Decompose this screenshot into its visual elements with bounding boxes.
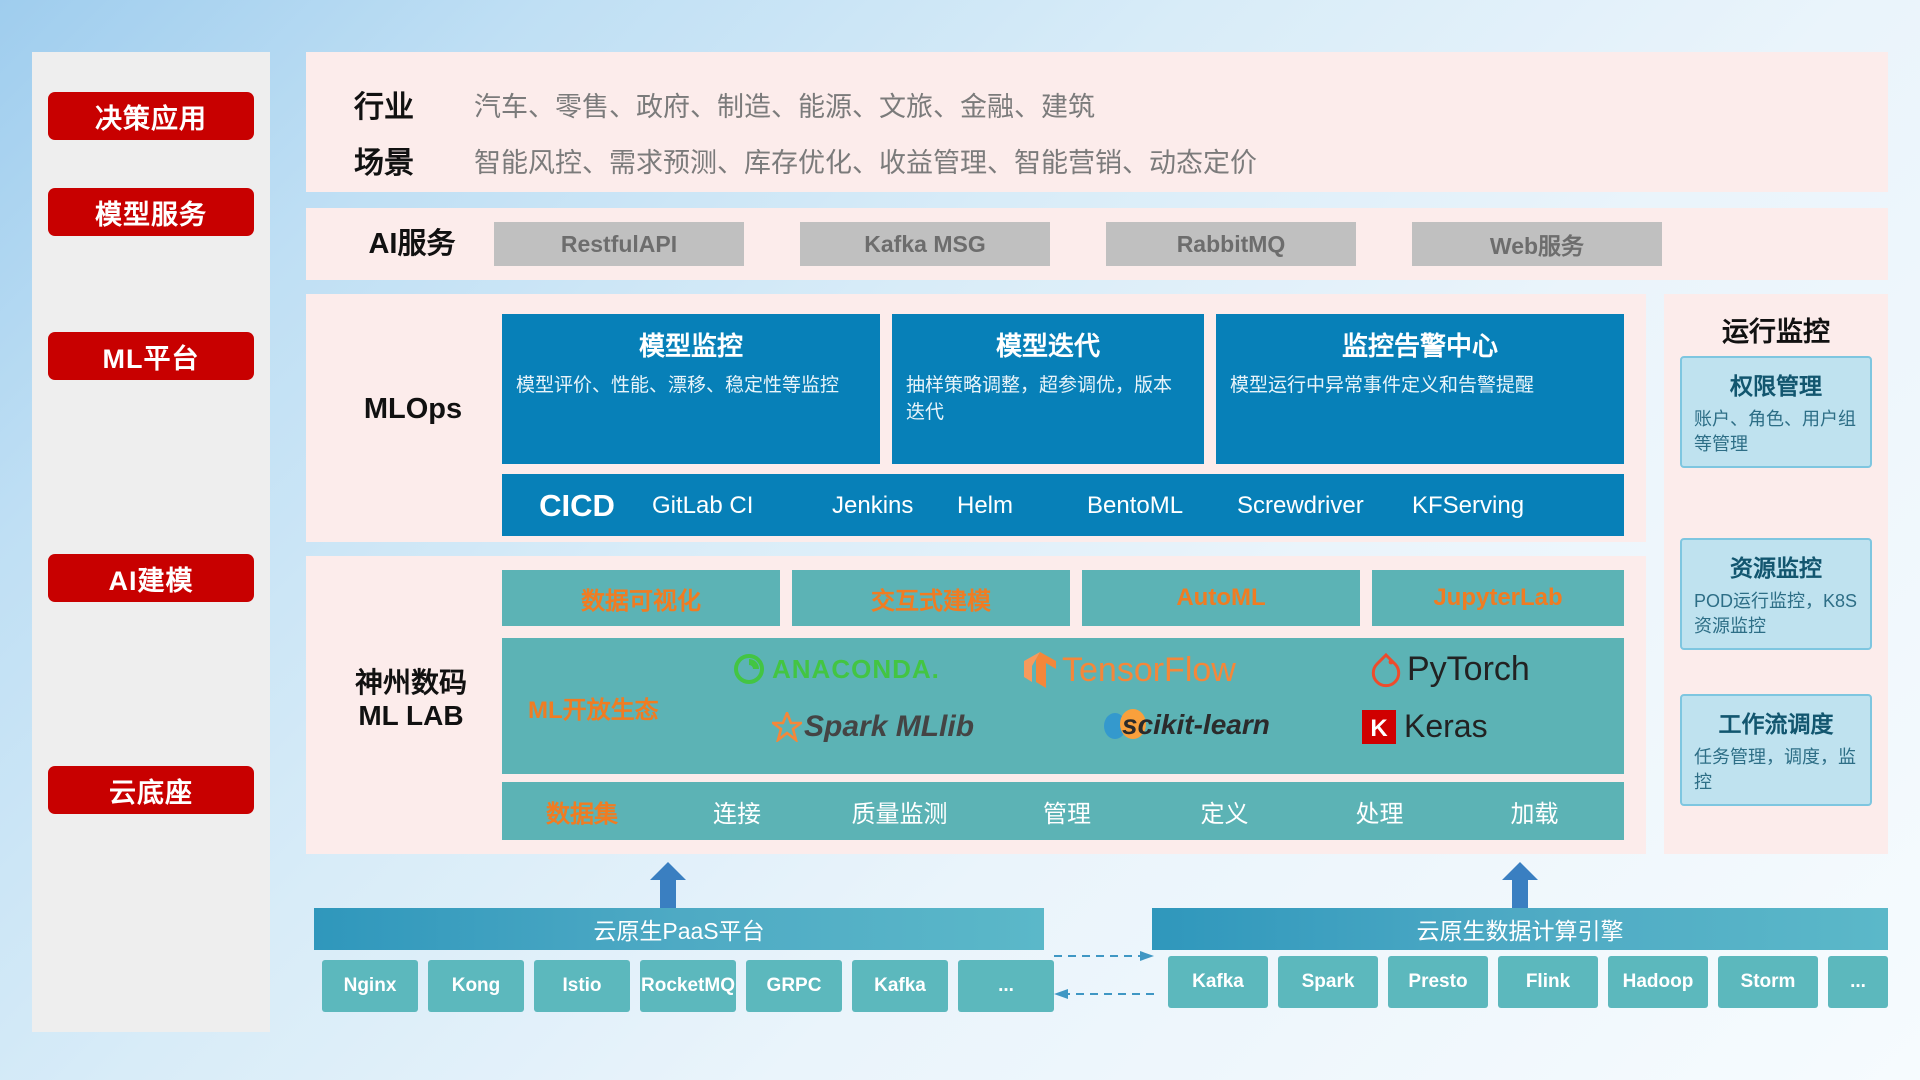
paas-chip-kong[interactable]: Kong: [428, 960, 524, 1012]
monitor-card-workflow[interactable]: 工作流调度 任务管理，调度，监控: [1680, 694, 1872, 806]
engine-chip-storm[interactable]: Storm: [1718, 956, 1818, 1008]
rail-item-cloud-base[interactable]: 云底座: [48, 766, 254, 814]
dataset-item-process[interactable]: 处理: [1302, 794, 1457, 829]
rail-label: ML平台: [103, 337, 200, 376]
card-desc: 账户、角色、用户组等管理: [1694, 407, 1858, 457]
architecture-diagram: 决策应用 模型服务 ML平台 AI建模 云底座 行业 汽车、零售、政府、制造、能…: [0, 0, 1920, 1080]
spark-mllib-wordmark: Spark MLlib: [804, 710, 974, 744]
paas-title-bar: 云原生PaaS平台: [314, 908, 1044, 950]
card-desc: 模型运行中异常事件定义和告警提醒: [1230, 373, 1610, 400]
tool-chip-automl[interactable]: AutoML: [1082, 570, 1360, 626]
scikit-learn-logo: scikit-learn: [1102, 708, 1270, 742]
mlops-band: MLOps 模型监控 模型评价、性能、漂移、稳定性等监控 模型迭代 抽样策略调整…: [306, 294, 1646, 542]
spark-star-icon: [772, 712, 802, 742]
layer-rail: 决策应用 模型服务 ML平台 AI建模 云底座: [32, 52, 270, 1032]
mlops-card-model-monitoring[interactable]: 模型监控 模型评价、性能、漂移、稳定性等监控: [502, 314, 880, 464]
keras-logo: K Keras: [1362, 708, 1488, 745]
paas-chip-istio[interactable]: Istio: [534, 960, 630, 1012]
rail-item-ai-modeling[interactable]: AI建模: [48, 554, 254, 602]
industry-scenario-band: 行业 汽车、零售、政府、制造、能源、文旅、金融、建筑 场景 智能风控、需求预测、…: [306, 52, 1888, 192]
tool-chip-interactive-modeling[interactable]: 交互式建模: [792, 570, 1070, 626]
arrow-up-engine: [1500, 862, 1540, 908]
tensorflow-icon: [1022, 650, 1058, 690]
cicd-item-jenkins[interactable]: Jenkins: [832, 474, 957, 521]
tensorflow-logo: TensorFlow: [1022, 650, 1236, 690]
ai-service-chip-rabbitmq[interactable]: RabbitMQ: [1106, 222, 1356, 266]
scikit-learn-wordmark: scikit-learn: [1122, 709, 1270, 741]
dataset-item-manage[interactable]: 管理: [987, 794, 1147, 829]
cicd-row: CICD GitLab CI Jenkins Helm BentoML Scre…: [502, 474, 1624, 536]
ai-service-label: AI服务: [342, 224, 482, 264]
card-title: 权限管理: [1694, 367, 1858, 401]
anaconda-icon: [732, 652, 766, 686]
dataset-item-define[interactable]: 定义: [1147, 794, 1302, 829]
paas-chip-rocketmq[interactable]: RocketMQ: [640, 960, 736, 1012]
rail-label: AI建模: [109, 559, 194, 598]
ai-service-band: AI服务 RestfulAPI Kafka MSG RabbitMQ Web服务: [306, 208, 1888, 280]
scenario-key: 场景: [354, 138, 474, 182]
tensorflow-wordmark: TensorFlow: [1062, 651, 1236, 690]
ml-lab-label-line2: ML LAB: [355, 699, 467, 732]
engine-chip-hadoop[interactable]: Hadoop: [1608, 956, 1708, 1008]
tool-chip-data-visualization[interactable]: 数据可视化: [502, 570, 780, 626]
ai-service-chip-kafka-msg[interactable]: Kafka MSG: [800, 222, 1050, 266]
engine-chip-flink[interactable]: Flink: [1498, 956, 1598, 1008]
rail-item-model-service[interactable]: 模型服务: [48, 188, 254, 236]
rail-label: 模型服务: [95, 193, 207, 232]
keras-wordmark: Keras: [1404, 708, 1488, 745]
anaconda-wordmark: ANACONDA.: [772, 654, 940, 685]
pytorch-logo: PyTorch: [1370, 650, 1530, 689]
dashed-connector: [1054, 946, 1154, 1006]
monitor-card-resource[interactable]: 资源监控 POD运行监控，K8S资源监控: [1680, 538, 1872, 650]
paas-chip-grpc[interactable]: GRPC: [746, 960, 842, 1012]
runtime-monitor-panel: 运行监控 权限管理 账户、角色、用户组等管理 资源监控 POD运行监控，K8S资…: [1664, 294, 1888, 854]
rail-item-decision-app[interactable]: 决策应用: [48, 92, 254, 140]
card-title: 模型迭代: [906, 326, 1190, 363]
ai-service-chip-restfulapi[interactable]: RestfulAPI: [494, 222, 744, 266]
mlops-card-model-iteration[interactable]: 模型迭代 抽样策略调整，超参调优，版本迭代: [892, 314, 1204, 464]
ml-ecosystem-label: ML开放生态: [528, 690, 659, 725]
ml-lab-label: 神州数码 ML LAB: [318, 664, 504, 734]
scenario-value: 智能风控、需求预测、库存优化、收益管理、智能营销、动态定价: [474, 141, 1257, 180]
scenario-row: 场景 智能风控、需求预测、库存优化、收益管理、智能营销、动态定价: [354, 138, 1257, 182]
engine-chip-more[interactable]: ...: [1828, 956, 1888, 1008]
keras-icon: K: [1362, 710, 1396, 744]
card-desc: 任务管理，调度，监控: [1694, 745, 1858, 795]
engine-chip-kafka[interactable]: Kafka: [1168, 956, 1268, 1008]
cicd-item-bentoml[interactable]: BentoML: [1087, 474, 1237, 521]
rail-item-ml-platform[interactable]: ML平台: [48, 332, 254, 380]
pytorch-icon: [1370, 652, 1402, 688]
engine-chip-spark[interactable]: Spark: [1278, 956, 1378, 1008]
card-title: 工作流调度: [1694, 705, 1858, 739]
tool-chip-jupyterlab[interactable]: JupyterLab: [1372, 570, 1624, 626]
rail-label: 决策应用: [95, 97, 207, 136]
card-desc: 抽样策略调整，超参调优，版本迭代: [906, 373, 1190, 427]
card-title: 监控告警中心: [1230, 326, 1610, 363]
card-title: 资源监控: [1694, 549, 1858, 583]
pytorch-wordmark: PyTorch: [1407, 650, 1530, 689]
svg-text:K: K: [1370, 715, 1388, 742]
engine-chip-presto[interactable]: Presto: [1388, 956, 1488, 1008]
dataset-item-quality[interactable]: 质量监测: [812, 794, 987, 829]
card-desc: POD运行监控，K8S资源监控: [1694, 589, 1858, 639]
paas-title: 云原生PaaS平台: [593, 912, 764, 946]
card-title: 模型监控: [516, 326, 866, 363]
cicd-item-gitlab-ci[interactable]: GitLab CI: [652, 474, 832, 521]
dataset-item-connect[interactable]: 连接: [662, 794, 812, 829]
cicd-item-screwdriver[interactable]: Screwdriver: [1237, 474, 1412, 521]
paas-chip-nginx[interactable]: Nginx: [322, 960, 418, 1012]
card-desc: 模型评价、性能、漂移、稳定性等监控: [516, 373, 866, 400]
dataset-label: 数据集: [502, 794, 662, 829]
ai-modeling-band: 神州数码 ML LAB 数据可视化 交互式建模 AutoML JupyterLa…: [306, 556, 1646, 854]
runtime-monitor-title: 运行监控: [1664, 310, 1888, 349]
spark-mllib-logo: Spark MLlib: [772, 710, 974, 744]
cicd-label: CICD: [502, 474, 652, 524]
ml-ecosystem-panel: ML开放生态 ANACONDA. TensorFlow: [502, 638, 1624, 774]
cicd-item-kfserving[interactable]: KFServing: [1412, 474, 1572, 521]
monitor-card-permission[interactable]: 权限管理 账户、角色、用户组等管理: [1680, 356, 1872, 468]
paas-chip-kafka[interactable]: Kafka: [852, 960, 948, 1012]
cicd-item-helm[interactable]: Helm: [957, 474, 1087, 521]
paas-chip-more[interactable]: ...: [958, 960, 1054, 1012]
industry-value: 汽车、零售、政府、制造、能源、文旅、金融、建筑: [474, 85, 1095, 124]
engine-title: 云原生数据计算引擎: [1417, 912, 1624, 946]
ai-service-chip-web-service[interactable]: Web服务: [1412, 222, 1662, 266]
industry-key: 行业: [354, 82, 474, 126]
industry-row: 行业 汽车、零售、政府、制造、能源、文旅、金融、建筑: [354, 82, 1095, 126]
engine-title-bar: 云原生数据计算引擎: [1152, 908, 1888, 950]
mlops-card-alert-center[interactable]: 监控告警中心 模型运行中异常事件定义和告警提醒: [1216, 314, 1624, 464]
arrow-up-paas: [648, 862, 688, 908]
ml-lab-label-line1: 神州数码: [355, 666, 467, 699]
rail-label: 云底座: [109, 771, 193, 810]
dataset-item-load[interactable]: 加载: [1457, 794, 1612, 829]
mlops-label: MLOps: [328, 384, 498, 434]
anaconda-logo: ANACONDA.: [732, 652, 940, 686]
dataset-row: 数据集 连接 质量监测 管理 定义 处理 加载: [502, 782, 1624, 840]
